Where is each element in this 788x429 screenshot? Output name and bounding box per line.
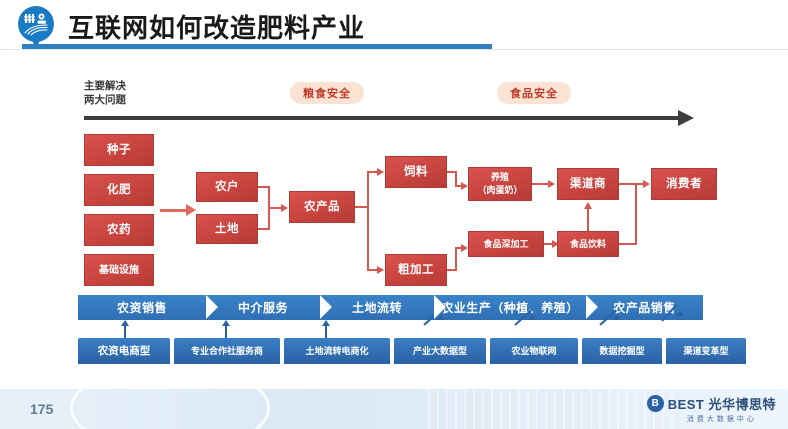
right-arrow-icon xyxy=(678,110,694,126)
conn-to-consumer-arrow xyxy=(643,180,650,188)
band-stage-produce-sales[interactable]: 农产品销售 xyxy=(586,295,703,320)
node-farmer[interactable]: 农户 xyxy=(196,172,258,202)
model-box-agri-ecommerce[interactable]: 农资电商型 xyxy=(78,338,170,364)
conn-to-feed-arrow xyxy=(377,168,384,176)
page-title: 互联网如何改造肥料产业 xyxy=(68,8,365,45)
node-feed[interactable]: 饲料 xyxy=(385,156,447,188)
model-box-data-mining[interactable]: 数据挖掘型 xyxy=(582,338,662,364)
page-number: 175 xyxy=(30,401,53,417)
band-stage-intermediary-service[interactable]: 中介服务 xyxy=(206,295,320,320)
node-breeding-line-2: （肉蛋奶） xyxy=(477,184,522,197)
chevron-notch xyxy=(434,295,446,319)
pin-glyph-svg xyxy=(23,12,49,36)
node-infrastructure[interactable]: 基础设施 xyxy=(84,254,154,286)
conn-rough-to-deep-arrow xyxy=(461,244,468,252)
brand-mark-icon: B xyxy=(647,395,664,412)
band-stage-agri-supply-sales[interactable]: 农资销售 xyxy=(78,295,206,320)
footer-skyline-decoration xyxy=(428,389,678,429)
node-breeding-line-1: 养殖 xyxy=(491,171,509,184)
band-stage-land-transfer[interactable]: 土地流转 xyxy=(320,295,434,320)
model-arrow-head-3 xyxy=(322,320,330,326)
model-box-industry-bigdata[interactable]: 产业大数据型 xyxy=(394,338,486,364)
side-note: 主要解决 两大问题 xyxy=(84,79,126,107)
band-stage-label: 农资销售 xyxy=(117,299,167,316)
node-land[interactable]: 土地 xyxy=(196,214,258,244)
footer-logo-name: 光华博思特 xyxy=(708,397,776,412)
diagram-area: 主要解决 两大问题 粮食安全 食品安全 种子 化肥 农药 基础设施 农户 土地 … xyxy=(0,52,788,389)
footer-swoosh-decoration xyxy=(70,389,270,429)
model-box-land-transfer-ecommerce[interactable]: 土地流转电商化 xyxy=(284,338,390,364)
node-seed[interactable]: 种子 xyxy=(84,134,154,166)
pill-grain-security: 粮食安全 xyxy=(290,82,364,104)
conn-produce-vbar xyxy=(367,171,369,271)
model-box-cooperative-service[interactable]: 专业合作社服务商 xyxy=(174,338,280,364)
conn-resources-to-produce xyxy=(268,207,282,209)
footer-logo-mark-text: BEST xyxy=(668,397,705,412)
side-note-line-2: 两大问题 xyxy=(84,93,126,107)
conn-beverage-up-line xyxy=(587,208,589,231)
band-stage-label: 农业生产（种植、养殖） xyxy=(441,299,579,316)
slide-canvas: 互联网如何改造肥料产业 主要解决 两大问题 粮食安全 食品安全 种子 化肥 农药… xyxy=(0,0,788,429)
inputs-to-resources-arrow-head xyxy=(186,204,196,216)
pill-food-safety: 食品安全 xyxy=(497,82,571,104)
chevron-notch xyxy=(320,295,332,319)
node-fertilizer[interactable]: 化肥 xyxy=(84,174,154,206)
conn-to-rough-arrow xyxy=(377,266,384,274)
band-stage-label: 中介服务 xyxy=(238,299,288,316)
node-deep-food-processing[interactable]: 食品深加工 xyxy=(468,231,544,257)
node-agricultural-products[interactable]: 农产品 xyxy=(289,191,355,223)
band-stage-agricultural-production[interactable]: 农业生产（种植、养殖） xyxy=(434,295,586,320)
model-arrow-head-5 xyxy=(528,314,536,320)
conn-to-consumer-vbar xyxy=(635,183,637,245)
model-box-channel-reform[interactable]: 渠道变革型 xyxy=(666,338,746,364)
model-arrow-head-2 xyxy=(222,320,230,326)
slide-footer: 175 B BEST 光华博思特 消费大数据中心 xyxy=(0,389,788,429)
timeline-arrow-line xyxy=(84,116,680,120)
model-arrow-head-6 xyxy=(613,314,621,320)
model-arrow-head-1 xyxy=(121,320,129,326)
model-box-agri-iot[interactable]: 农业物联网 xyxy=(490,338,578,364)
node-breeding[interactable]: 养殖 （肉蛋奶） xyxy=(468,167,532,201)
conn-rough-vbar xyxy=(455,247,457,271)
footer-logo-main: BEST 光华博思特 xyxy=(668,394,776,413)
footer-logo-sub: 消费大数据中心 xyxy=(668,414,776,424)
node-pesticide[interactable]: 农药 xyxy=(84,214,154,246)
chevron-notch xyxy=(206,295,218,319)
node-rough-processing[interactable]: 粗加工 xyxy=(385,254,447,286)
conn-breeding-to-channel-arrow xyxy=(548,180,555,188)
inputs-to-resources-arrow-line xyxy=(160,209,188,212)
band-stage-label: 土地流转 xyxy=(352,299,402,316)
header-divider xyxy=(0,49,788,50)
model-arrow-head-7 xyxy=(676,310,684,316)
side-note-line-1: 主要解决 xyxy=(84,79,126,93)
conn-beverage-up-arrow xyxy=(584,202,592,209)
chevron-notch xyxy=(586,295,598,319)
node-food-beverage[interactable]: 食品饮料 xyxy=(557,231,619,257)
footer-logo: B BEST 光华博思特 消费大数据中心 xyxy=(647,394,776,424)
node-channel-dealer[interactable]: 渠道商 xyxy=(557,168,619,200)
conn-feed-to-breeding-arrow xyxy=(461,182,468,190)
conn-produce-arrow xyxy=(281,204,288,212)
node-consumer[interactable]: 消费者 xyxy=(651,168,717,200)
slide-header: 互联网如何改造肥料产业 xyxy=(0,0,788,52)
